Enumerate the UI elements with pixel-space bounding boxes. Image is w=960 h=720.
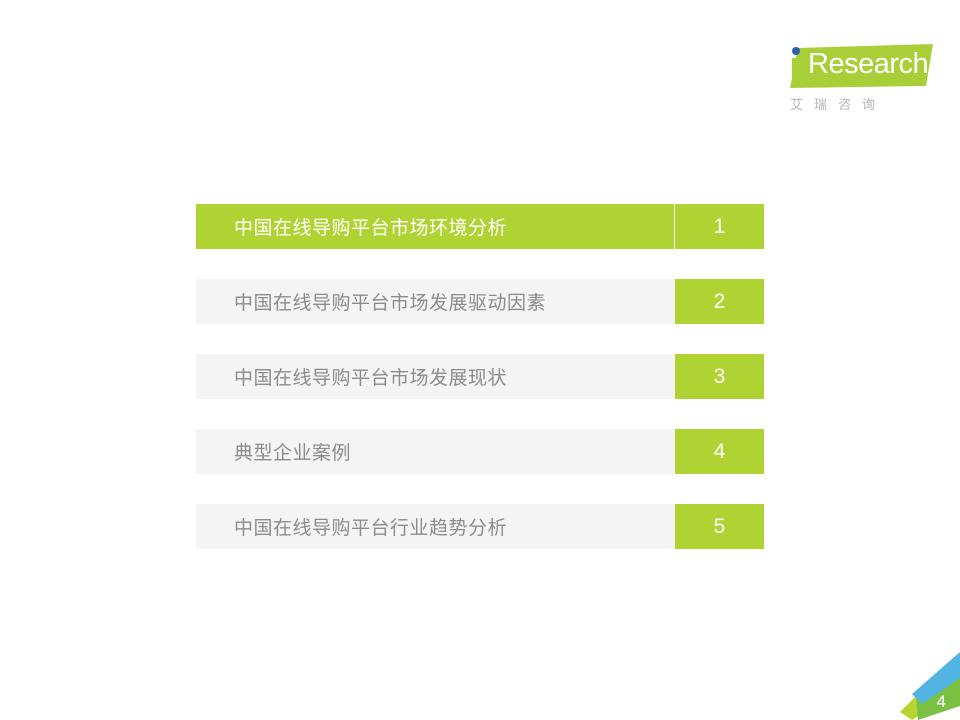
logo-subtitle: 艾瑞咨询 xyxy=(790,94,886,113)
agenda-item-5-label: 中国在线导购平台行业趋势分析 xyxy=(196,504,675,549)
agenda-item-5[interactable]: 中国在线导购平台行业趋势分析 5 xyxy=(196,504,764,549)
agenda-item-4-number: 4 xyxy=(675,429,764,474)
logo-i-stem-icon xyxy=(792,58,800,81)
iresearch-logo: Research 艾瑞咨询 xyxy=(778,42,938,120)
agenda-item-3-number: 3 xyxy=(675,354,764,399)
agenda-item-3-label: 中国在线导购平台市场发展现状 xyxy=(196,354,675,399)
agenda-list: 中国在线导购平台市场环境分析 1 中国在线导购平台市场发展驱动因素 2 中国在线… xyxy=(196,204,764,549)
agenda-item-4[interactable]: 典型企业案例 4 xyxy=(196,429,764,474)
agenda-item-4-label: 典型企业案例 xyxy=(196,429,675,474)
logo-mark: Research xyxy=(778,42,938,92)
corner-decoration-icon xyxy=(892,652,960,720)
logo-wordmark: Research xyxy=(808,50,928,79)
agenda-item-2-label: 中国在线导购平台市场发展驱动因素 xyxy=(196,279,675,324)
logo-i-dot-icon xyxy=(792,47,800,55)
agenda-item-3[interactable]: 中国在线导购平台市场发展现状 3 xyxy=(196,354,764,399)
agenda-item-2-number: 2 xyxy=(675,279,764,324)
agenda-item-1-label: 中国在线导购平台市场环境分析 xyxy=(196,204,675,249)
agenda-item-5-number: 5 xyxy=(675,504,764,549)
page-number: 4 xyxy=(937,692,946,712)
agenda-item-1[interactable]: 中国在线导购平台市场环境分析 1 xyxy=(196,204,764,249)
agenda-item-2[interactable]: 中国在线导购平台市场发展驱动因素 2 xyxy=(196,279,764,324)
agenda-item-1-number: 1 xyxy=(675,204,764,249)
